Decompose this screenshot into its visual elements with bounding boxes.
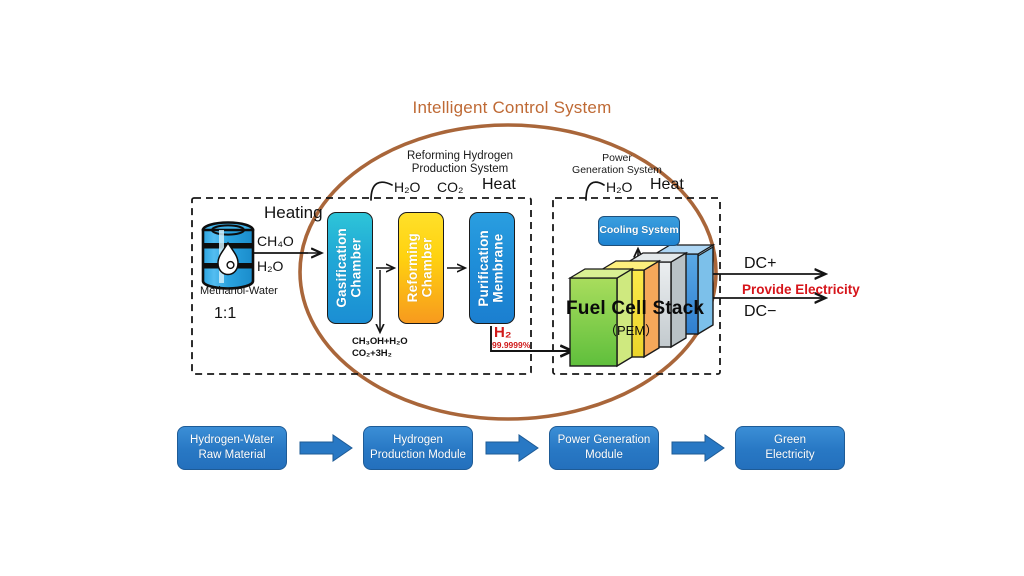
- hydrogen-species-text: H₂: [494, 324, 512, 341]
- reforming-emission-heat: Heat: [482, 176, 516, 194]
- flow-box-power-generation-module[interactable]: Power Generation Module: [549, 426, 659, 470]
- cooling-system-box[interactable]: Cooling System: [598, 216, 680, 246]
- flow-arrow-2: [486, 435, 538, 461]
- purification-membrane-label: Purification Membrane: [477, 230, 506, 307]
- power-emission-h2o: H₂O: [606, 179, 632, 195]
- flow-arrow-3: [672, 435, 724, 461]
- reforming-system-caption: Reforming Hydrogen Production System: [390, 150, 530, 176]
- reforming-chamber-label: Reforming Chamber: [406, 233, 435, 302]
- feedstock-ratio: 1:1: [214, 305, 236, 323]
- provide-electricity-label: Provide Electricity: [742, 282, 860, 297]
- diagram-canvas: Intelligent Control System Reforming Hyd…: [0, 0, 1024, 576]
- fuel-cell-stack-title: Fuel Cell Stack: [566, 298, 704, 320]
- flow-box-green-electricity[interactable]: Green Electricity: [735, 426, 845, 470]
- gasification-chamber[interactable]: Gasification Chamber: [327, 212, 373, 324]
- flow-box-hydrogen-water-raw-material[interactable]: Hydrogen-Water Raw Material: [177, 426, 287, 470]
- reforming-chamber[interactable]: Reforming Chamber: [398, 212, 444, 324]
- power-emission-heat: Heat: [650, 176, 684, 194]
- reaction-equation: CH₃OH+H₂O CO₂+3H₂: [352, 336, 407, 360]
- feed-chemical-methanol: CH₄O: [257, 233, 294, 249]
- oil-drum-icon: [203, 223, 253, 289]
- gasification-chamber-label: Gasification Chamber: [335, 228, 364, 308]
- reaction-equation-line2: CO₂+3H₂: [352, 348, 407, 360]
- feed-chemical-water: H₂O: [257, 258, 283, 274]
- fuel-cell-stack-subtitle: （PEM）: [604, 320, 658, 339]
- reforming-emission-co2: CO₂: [437, 179, 463, 195]
- power-system-caption: Power Generation System: [562, 152, 672, 176]
- purification-membrane[interactable]: Purification Membrane: [469, 212, 515, 324]
- flow-arrow-1: [300, 435, 352, 461]
- reaction-equation-line1: CH₃OH+H₂O: [352, 336, 407, 348]
- heating-label: Heating: [264, 203, 323, 223]
- reforming-emission-h2o: H₂O: [394, 179, 420, 195]
- page-title: Intelligent Control System: [0, 98, 1024, 118]
- dc-positive-label: DC+: [744, 255, 776, 273]
- flow-box-hydrogen-production-module[interactable]: Hydrogen Production Module: [363, 426, 473, 470]
- hydrogen-purity-label: 99.9999%: [492, 340, 530, 350]
- dc-negative-label: DC−: [744, 303, 776, 321]
- feedstock-name: Methanol-Water: [200, 285, 278, 297]
